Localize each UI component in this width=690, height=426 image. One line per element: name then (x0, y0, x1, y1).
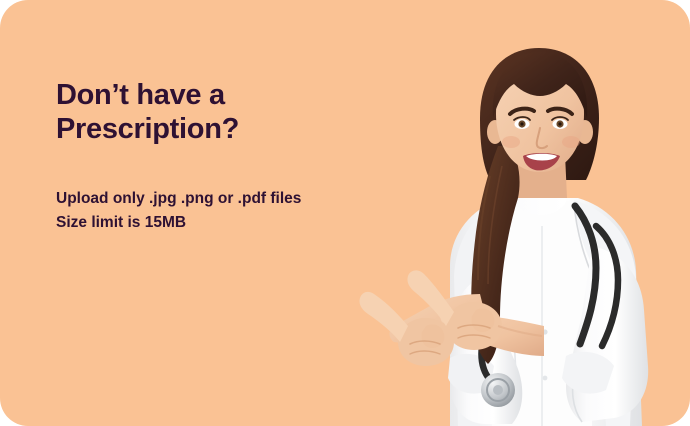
prescription-upload-banner: Don’t have a Prescription? Upload only .… (0, 0, 690, 426)
banner-copy-block: Don’t have a Prescription? Upload only .… (56, 78, 436, 146)
stethoscope-chestpiece-icon (481, 373, 515, 407)
page-title: Don’t have a Prescription? (56, 78, 436, 146)
upload-requirements-text: Upload only .jpg .png or .pdf files Size… (56, 187, 301, 235)
